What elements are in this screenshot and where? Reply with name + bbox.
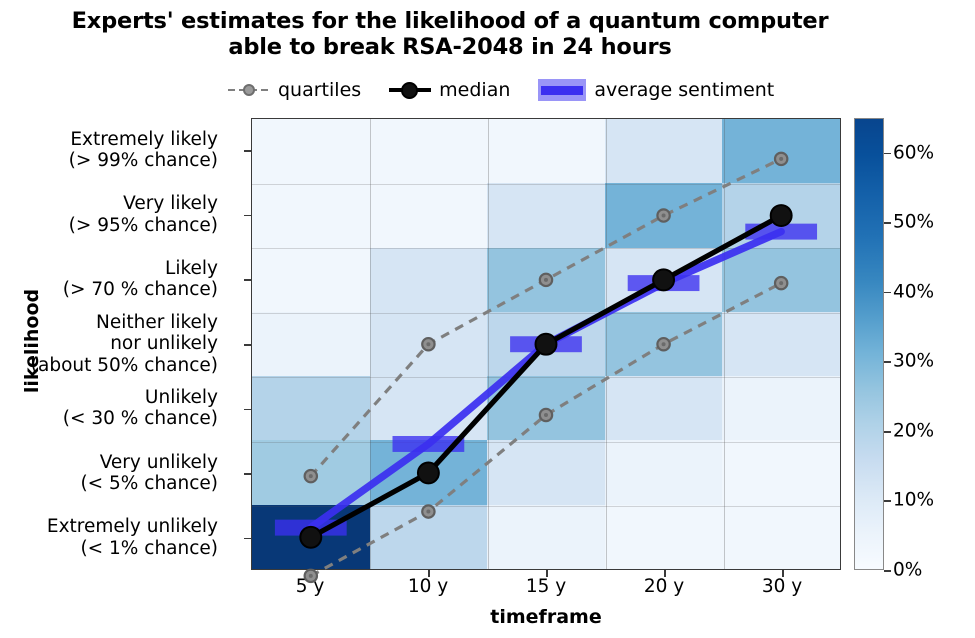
legend-item-average-sentiment[interactable]: average sentiment <box>538 79 774 101</box>
colorbar-tick-mark <box>884 570 891 572</box>
chart-title-line-2: able to break RSA-2048 in 24 hours <box>50 34 850 60</box>
quartile-marker <box>657 338 669 350</box>
median-marker <box>536 334 557 355</box>
x-axis-tick-label: 15 y <box>486 576 606 597</box>
colorbar-tick-label: 0% <box>893 560 922 581</box>
quartile-line <box>311 159 781 476</box>
quartiles-line-icon <box>228 83 270 97</box>
x-axis-tick-mark <box>428 570 430 577</box>
x-axis-tick-label: 30 y <box>722 576 842 597</box>
y-axis-tick-label: Very likely (> 95% chance) <box>69 193 218 236</box>
y-axis-tick-label: Unlikely (< 30 % chance) <box>63 387 218 430</box>
quartile-marker <box>422 505 434 517</box>
chart-title: Experts' estimates for the likelihood of… <box>50 8 850 61</box>
x-axis-tick-label: 20 y <box>604 576 724 597</box>
x-axis-tick-mark <box>546 570 548 577</box>
x-axis-label: timeframe <box>251 606 841 628</box>
legend-label-quartiles: quartiles <box>278 79 361 101</box>
legend-label-average-sentiment: average sentiment <box>594 79 774 101</box>
median-line-icon <box>389 81 431 99</box>
colorbar-tick-mark <box>884 222 891 224</box>
figure: Experts' estimates for the likelihood of… <box>0 0 975 638</box>
colorbar-tick-mark <box>884 500 891 502</box>
y-axis-tick-mark <box>244 473 251 475</box>
quartile-marker <box>540 274 552 286</box>
colorbar-tick-mark <box>884 153 891 155</box>
legend-item-median[interactable]: median <box>389 79 510 101</box>
y-axis-tick-label: Very unlikely (< 5% chance) <box>80 452 218 495</box>
y-axis-tick-mark <box>244 409 251 411</box>
median-marker <box>300 527 321 548</box>
colorbar-tick-label: 60% <box>893 142 934 163</box>
median-marker <box>418 462 439 483</box>
colorbar-tick-mark <box>884 361 891 363</box>
x-axis-tick-mark <box>664 570 666 577</box>
colorbar-tick-mark <box>884 431 891 433</box>
y-axis-tick-label: Neither likely nor unlikely (about 50% c… <box>31 312 218 376</box>
legend-label-median: median <box>439 79 510 101</box>
colorbar-tick-label: 20% <box>893 420 934 441</box>
y-axis-tick-label: Likely (> 70 % chance) <box>63 258 218 301</box>
y-axis-tick-mark <box>244 344 251 346</box>
colorbar <box>854 118 884 570</box>
legend-item-quartiles[interactable]: quartiles <box>228 79 361 101</box>
quartile-marker <box>422 338 434 350</box>
y-axis-tick-mark <box>244 215 251 217</box>
quartile-marker <box>775 277 787 289</box>
quartile-marker <box>540 409 552 421</box>
median-marker <box>771 205 792 226</box>
median-marker <box>653 269 674 290</box>
chart-title-line-1: Experts' estimates for the likelihood of… <box>50 8 850 34</box>
y-axis-tick-mark <box>244 538 251 540</box>
y-axis-tick-mark <box>244 150 251 152</box>
quartile-marker <box>305 470 317 482</box>
colorbar-tick-label: 10% <box>893 490 934 511</box>
legend: quartiles median average sentiment <box>228 76 848 104</box>
colorbar-tick-label: 30% <box>893 351 934 372</box>
quartile-line <box>311 283 781 576</box>
quartile-marker <box>305 570 317 582</box>
colorbar-tick-label: 50% <box>893 212 934 233</box>
x-axis-tick-mark <box>782 570 784 577</box>
series-overlay <box>252 119 840 569</box>
colorbar-tick-label: 40% <box>893 281 934 302</box>
x-axis-tick-label: 10 y <box>368 576 488 597</box>
quartile-marker <box>657 209 669 221</box>
average-sentiment-bar-icon <box>538 79 586 101</box>
y-axis-tick-mark <box>244 279 251 281</box>
colorbar-tick-mark <box>884 292 891 294</box>
quartile-marker <box>775 153 787 165</box>
plot-area <box>251 118 841 570</box>
y-axis-tick-label: Extremely unlikely (< 1% chance) <box>47 516 218 559</box>
y-axis-tick-label: Extremely likely (> 99% chance) <box>69 129 218 172</box>
